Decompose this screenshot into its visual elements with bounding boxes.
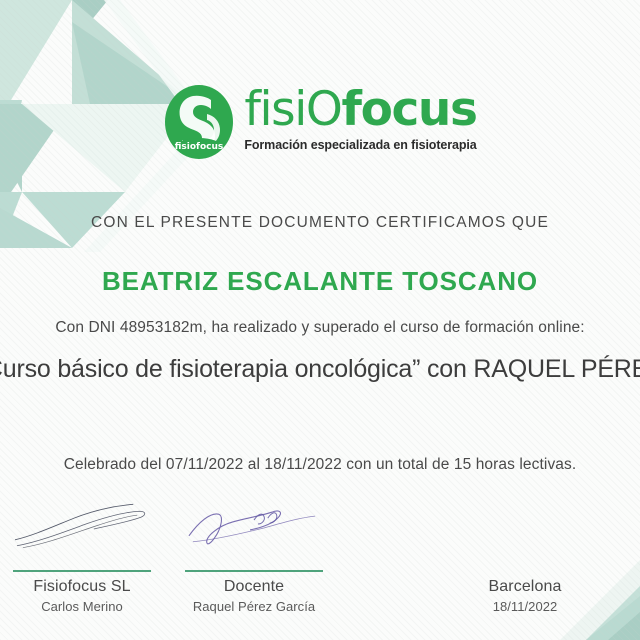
wordmark-part-fisi: fisi [244, 82, 306, 137]
course-title: “Curso básico de fisioterapia oncológica… [0, 355, 640, 384]
brand-wordmark-block: fisiOfocus Formación especializada en fi… [244, 82, 476, 152]
issue-place-date-block: Barcelona 18/11/2022 [440, 498, 610, 628]
course-dates-statement: Celebrado del 07/11/2022 al 18/11/2022 c… [0, 456, 640, 474]
dni-statement: Con DNI 48953182m, ha realizado y supera… [0, 319, 640, 337]
certificate-document: fisiofocus fisiOfocus Formación especial… [0, 0, 640, 640]
wordmark-part-o: O [306, 82, 342, 137]
logo-badge-text: fisiofocus [175, 142, 224, 152]
signature-raquel-perez-garcia-mark [185, 496, 323, 556]
signature-subtitle-1: Carlos Merino [13, 599, 151, 614]
recipient-name: BEATRIZ ESCALANTE TOSCANO [0, 266, 640, 297]
signature-title-1: Fisiofocus SL [13, 578, 151, 596]
brand-header: fisiofocus fisiOfocus Formación especial… [0, 82, 640, 160]
signature-title-2: Docente [185, 578, 323, 596]
fisiofocus-logo-mark: fisiofocus [163, 84, 235, 160]
signature-block-fisiofocus: Fisiofocus SL Carlos Merino [13, 498, 151, 628]
signature-rule-1 [13, 570, 151, 572]
issue-place: Barcelona [440, 578, 610, 596]
signature-subtitle-2: Raquel Pérez García [185, 599, 323, 614]
signature-rule-2 [185, 570, 323, 572]
certificate-content: fisiofocus fisiOfocus Formación especial… [0, 0, 640, 640]
brand-wordmark: fisiOfocus [244, 84, 476, 136]
wordmark-part-focus: focus [342, 82, 477, 137]
brand-tagline: Formación especializada en fisioterapia [244, 138, 476, 152]
signature-area: Fisiofocus SL Carlos Merino Docente Raqu… [0, 498, 640, 640]
issue-date: 18/11/2022 [440, 599, 610, 614]
certificate-preamble-text: CON EL PRESENTE DOCUMENTO CERTIFICAMOS Q… [0, 214, 640, 232]
signature-carlos-merino-mark [13, 496, 151, 556]
signature-block-docente: Docente Raquel Pérez García [185, 498, 323, 628]
